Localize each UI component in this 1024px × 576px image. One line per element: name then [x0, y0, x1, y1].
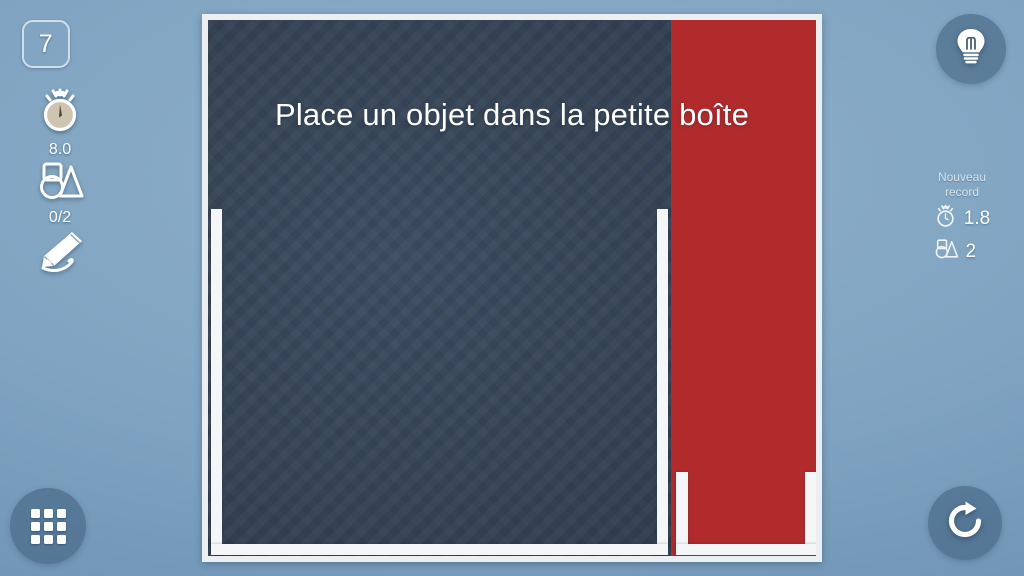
- record-title: Nouveau record: [908, 170, 1016, 200]
- stopwatch-icon: [934, 204, 957, 234]
- grid-menu-icon: [31, 509, 66, 544]
- shapes-value: 0/2: [0, 209, 120, 227]
- hint-button[interactable]: [936, 14, 1006, 84]
- pencil-draw-icon: [32, 259, 88, 276]
- big-box-right-wall: [657, 209, 668, 555]
- draw-tool-button[interactable]: [0, 228, 120, 277]
- small-box-left-wall: [676, 472, 688, 555]
- big-box-floor: [211, 544, 668, 555]
- record-shapes-value: 2: [966, 241, 992, 263]
- record-panel: Nouveau record 1.8: [908, 170, 1016, 265]
- shapes-icon: [933, 238, 959, 265]
- refresh-icon: [944, 500, 986, 547]
- game-screen: 7 8.0: [0, 0, 1024, 576]
- record-time-value: 1.8: [964, 208, 990, 230]
- level-badge: 7: [22, 20, 70, 68]
- play-area[interactable]: Place un objet dans la petite boîte: [202, 14, 822, 562]
- stopwatch-icon: [0, 88, 120, 139]
- small-box-right-wall: [805, 472, 817, 555]
- lightbulb-icon: [954, 27, 988, 72]
- red-zone: [671, 20, 816, 556]
- small-box-floor: [676, 544, 817, 555]
- record-shapes-row: 2: [908, 238, 1016, 265]
- timer-stat: 8.0: [0, 88, 120, 159]
- dark-zone: [208, 20, 671, 556]
- shapes-stat: 0/2: [0, 160, 120, 227]
- record-title-line2: record: [908, 185, 1016, 200]
- menu-button[interactable]: [10, 488, 86, 564]
- record-time-row: 1.8: [908, 204, 1016, 234]
- timer-value: 8.0: [0, 141, 120, 159]
- shapes-icon: [0, 160, 120, 207]
- restart-button[interactable]: [928, 486, 1002, 560]
- level-number: 7: [39, 30, 53, 59]
- record-title-line1: Nouveau: [908, 170, 1016, 185]
- big-box-left-wall: [211, 209, 222, 555]
